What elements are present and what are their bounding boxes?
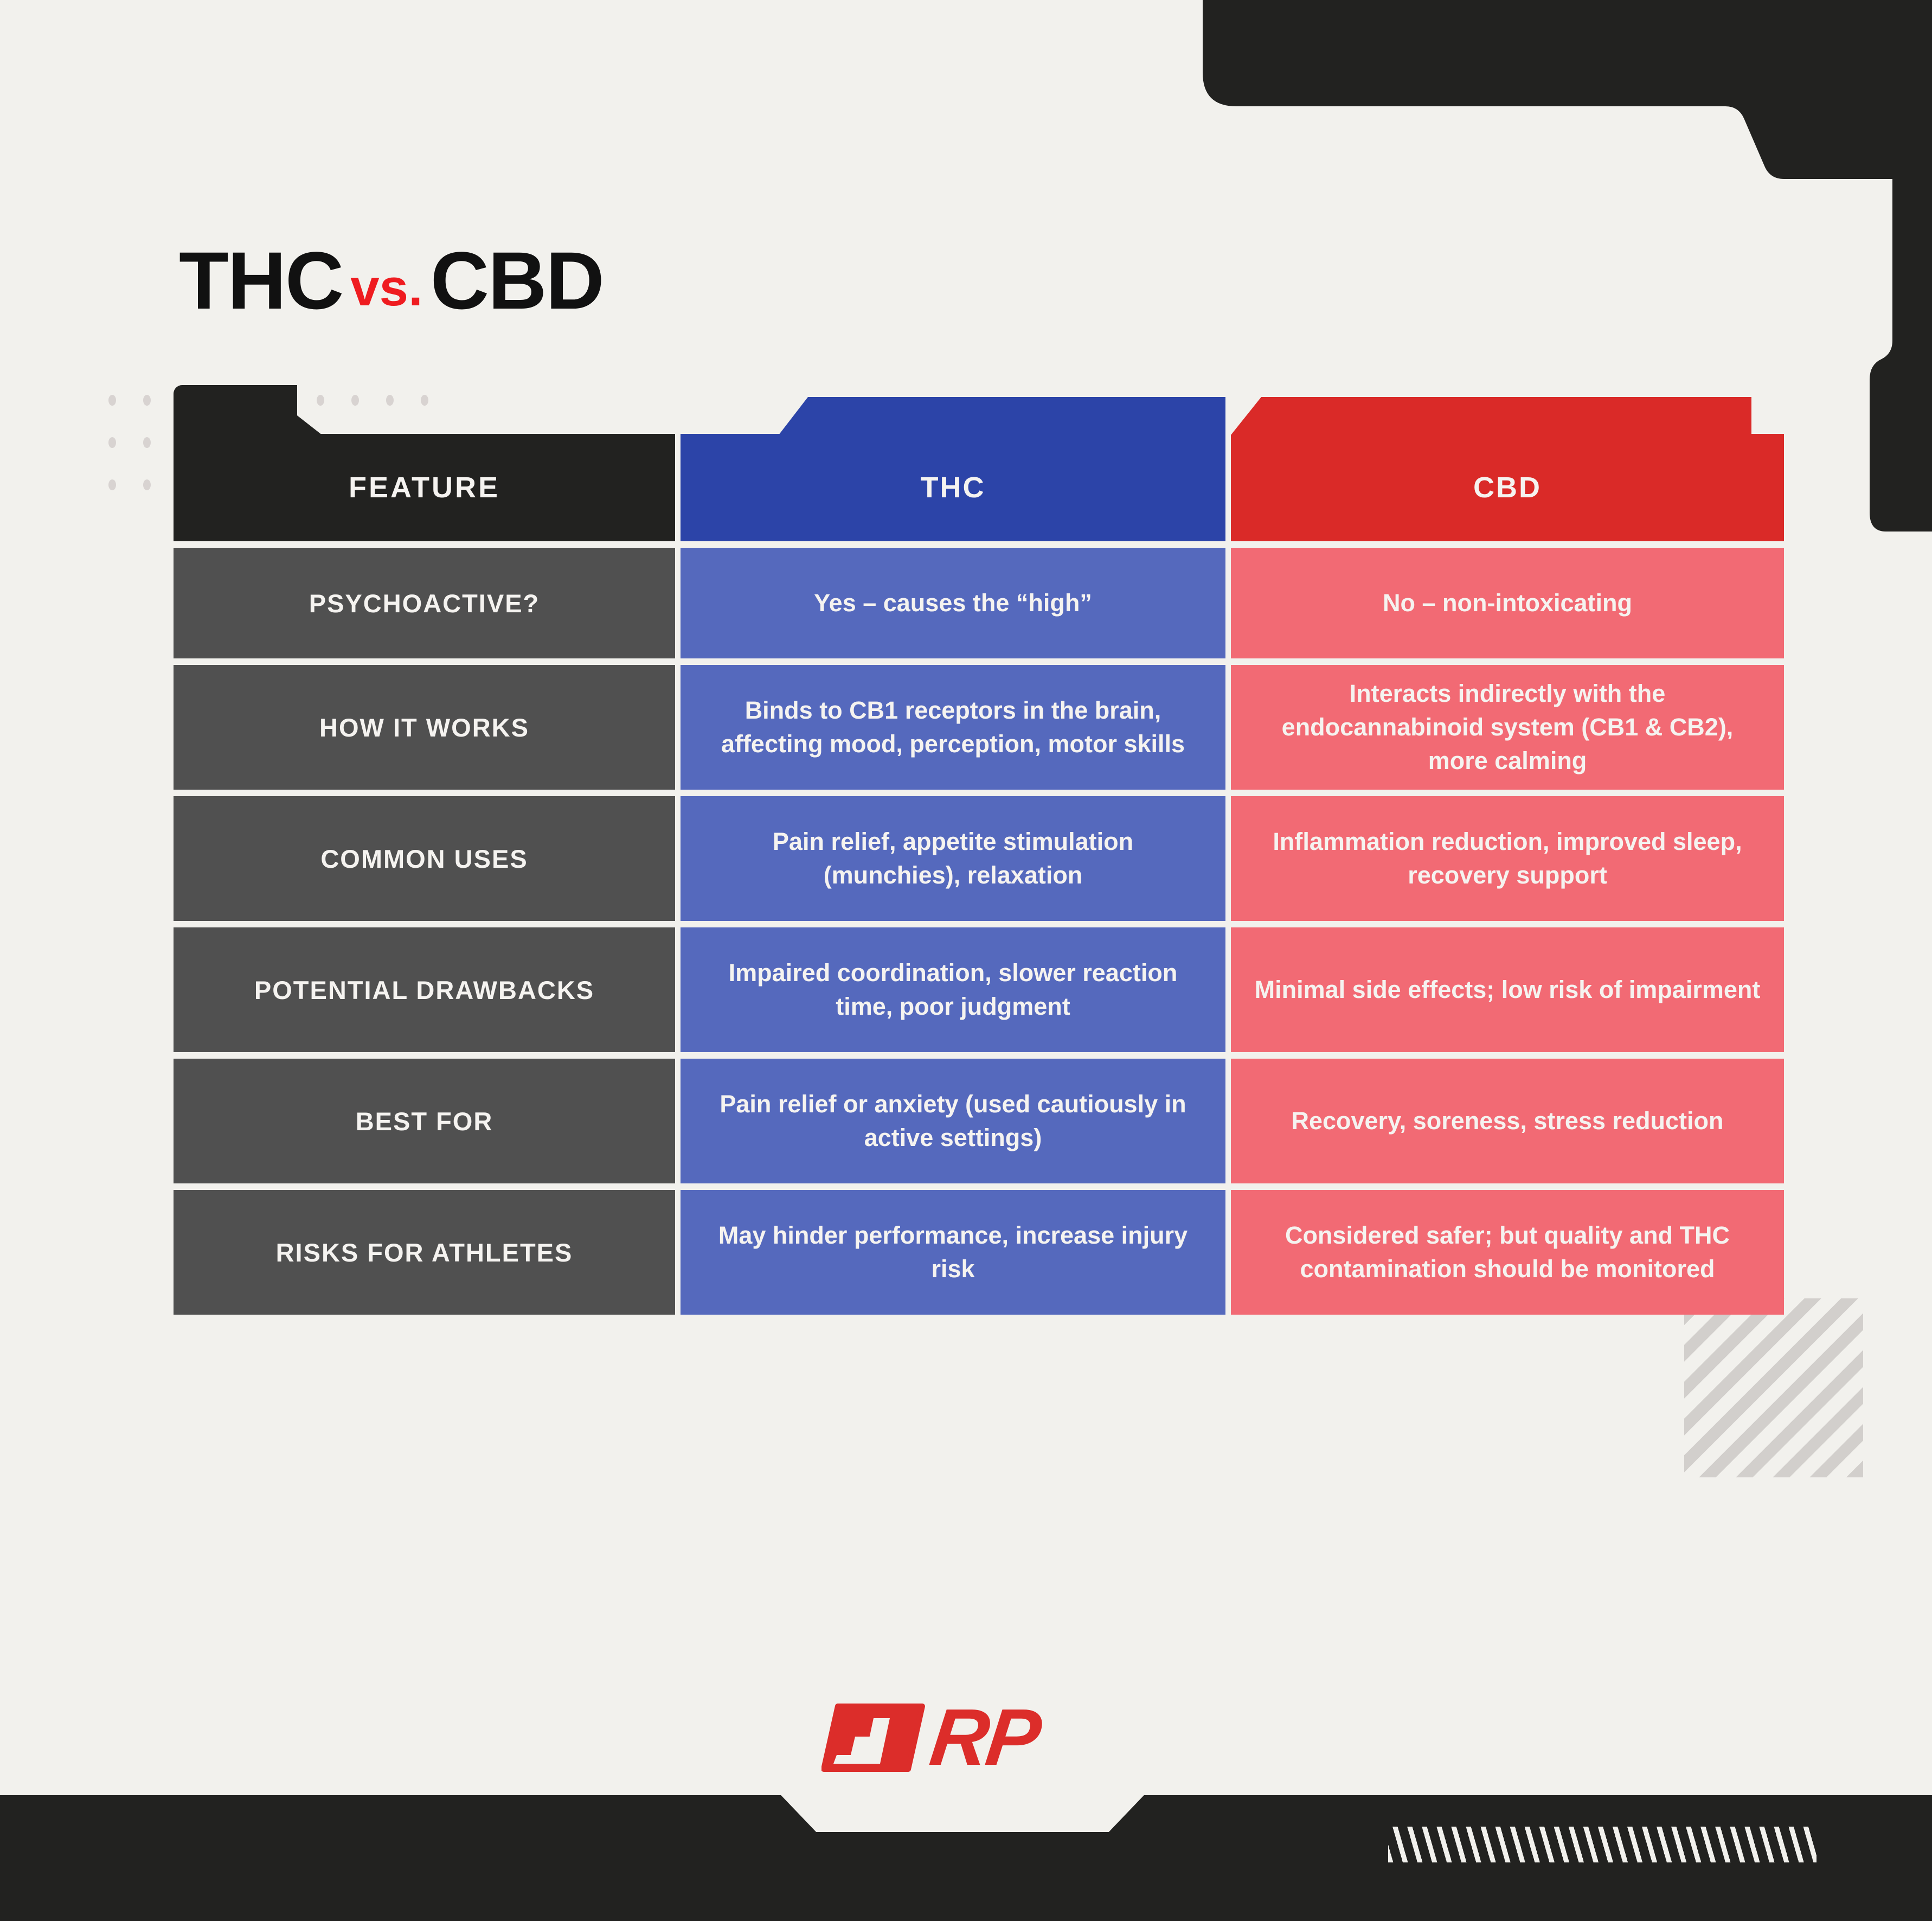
column-header-thc: THC [681, 434, 1225, 541]
cell-feature-text: PSYCHOACTIVE? [309, 588, 540, 618]
cell-thc: May hinder performance, increase injury … [681, 1190, 1225, 1315]
title-thc: THC [179, 235, 343, 326]
cell-cbd-text: No – non-intoxicating [1383, 586, 1632, 620]
cell-feature-text: RISKS FOR ATHLETES [276, 1238, 573, 1267]
table-row: HOW IT WORKS Binds to CB1 receptors in t… [174, 665, 1779, 790]
cell-thc: Pain relief, appetite stimulation (munch… [681, 796, 1225, 921]
cell-feature-text: BEST FOR [356, 1106, 493, 1136]
cell-cbd-text: Considered safer; but quality and THC co… [1253, 1219, 1762, 1286]
dot [108, 479, 116, 490]
cell-feature: RISKS FOR ATHLETES [174, 1190, 675, 1315]
cell-thc: Pain relief or anxiety (used cautiously … [681, 1059, 1225, 1183]
cell-feature: COMMON USES [174, 796, 675, 921]
dot [143, 437, 151, 448]
cell-cbd-text: Interacts indirectly with the endocannab… [1253, 677, 1762, 778]
cell-feature: BEST FOR [174, 1059, 675, 1183]
dot [386, 395, 394, 406]
cell-thc: Impaired coordination, slower reaction t… [681, 927, 1225, 1052]
table-header-row: FEATURE THC CBD [174, 434, 1779, 541]
footer-bar [0, 1795, 1932, 1921]
cell-cbd: No – non-intoxicating [1231, 548, 1784, 658]
table-row: PSYCHOACTIVE? Yes – causes the “high” No… [174, 548, 1779, 658]
column-header-feature: FEATURE [174, 434, 675, 541]
dot [351, 395, 359, 406]
cell-thc-text: May hinder performance, increase injury … [702, 1219, 1204, 1286]
table-row: BEST FOR Pain relief or anxiety (used ca… [174, 1059, 1779, 1183]
cell-thc-text: Pain relief or anxiety (used cautiously … [702, 1087, 1204, 1155]
cell-cbd-text: Inflammation reduction, improved sleep, … [1253, 825, 1762, 892]
table-row: COMMON USES Pain relief, appetite stimul… [174, 796, 1779, 921]
cell-thc-text: Yes – causes the “high” [814, 586, 1092, 620]
dot [421, 395, 428, 406]
title-vs: vs. [343, 259, 430, 317]
cell-cbd: Considered safer; but quality and THC co… [1231, 1190, 1784, 1315]
dot-row [108, 479, 178, 490]
logo-wordmark: RP [926, 1698, 1043, 1778]
cell-feature-text: COMMON USES [320, 844, 528, 874]
decorative-diagonal-stripes [1388, 1827, 1817, 1862]
decorative-dot-grid-row3 [108, 479, 178, 490]
cell-thc-text: Impaired coordination, slower reaction t… [702, 956, 1204, 1023]
dot [108, 395, 116, 406]
dot [143, 479, 151, 490]
cell-feature-text: POTENTIAL DRAWBACKS [254, 975, 594, 1005]
cell-thc: Binds to CB1 receptors in the brain, aff… [681, 665, 1225, 790]
cell-cbd-text: Recovery, soreness, stress reduction [1291, 1104, 1723, 1138]
rp-logo: RP [821, 1698, 1038, 1778]
cell-feature-text: HOW IT WORKS [319, 713, 529, 742]
table-row: POTENTIAL DRAWBACKS Impaired coordinatio… [174, 927, 1779, 1052]
footer-notch [710, 1795, 1215, 1832]
cell-thc: Yes – causes the “high” [681, 548, 1225, 658]
cell-cbd: Interacts indirectly with the endocannab… [1231, 665, 1784, 790]
column-header-thc-label: THC [921, 471, 986, 504]
infographic-canvas: THCvs.CBD FEATURE THC CBD PSYCHOACTIVE? … [0, 0, 1932, 1921]
title-cbd: CBD [431, 235, 604, 326]
cell-thc-text: Binds to CB1 receptors in the brain, aff… [702, 694, 1204, 761]
column-header-cbd: CBD [1231, 434, 1784, 541]
cell-feature: PSYCHOACTIVE? [174, 548, 675, 658]
page-title: THCvs.CBD [179, 240, 604, 321]
dot [143, 395, 151, 406]
dot [317, 395, 324, 406]
cell-cbd: Minimal side effects; low risk of impair… [1231, 927, 1784, 1052]
cell-thc-text: Pain relief, appetite stimulation (munch… [702, 825, 1204, 892]
column-header-cbd-label: CBD [1473, 471, 1542, 504]
bar-chart-icon [821, 1703, 928, 1772]
comparison-table: FEATURE THC CBD PSYCHOACTIVE? Yes – caus… [174, 434, 1779, 1321]
cell-feature: POTENTIAL DRAWBACKS [174, 927, 675, 1052]
column-header-feature-label: FEATURE [349, 471, 500, 504]
decorative-hatch-block [1684, 1298, 1863, 1477]
cell-cbd-text: Minimal side effects; low risk of impair… [1255, 973, 1761, 1007]
cell-cbd: Recovery, soreness, stress reduction [1231, 1059, 1784, 1183]
cell-cbd: Inflammation reduction, improved sleep, … [1231, 796, 1784, 921]
dot [108, 437, 116, 448]
cell-feature: HOW IT WORKS [174, 665, 675, 790]
table-row: RISKS FOR ATHLETES May hinder performanc… [174, 1190, 1779, 1315]
